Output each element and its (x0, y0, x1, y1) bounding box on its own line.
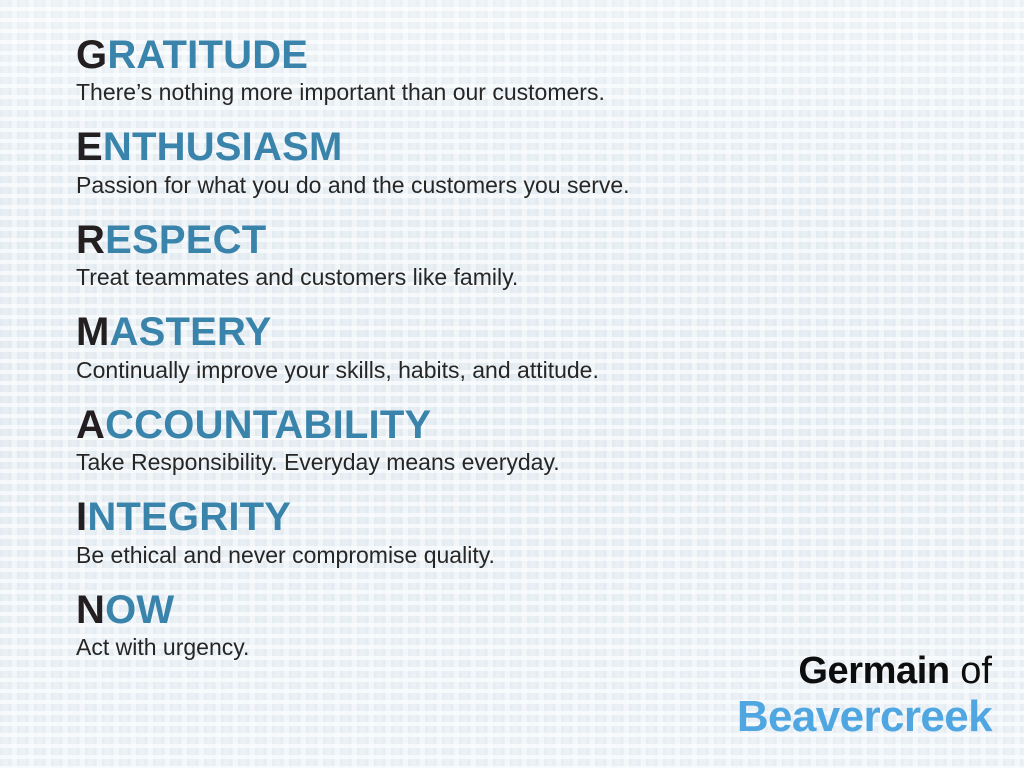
logo-connector-word: of (960, 650, 992, 692)
value-heading: GRATITUDE (76, 34, 1024, 76)
value-heading-rest: ASTERY (110, 310, 272, 354)
value-block-integrity: INTEGRITY Be ethical and never compromis… (76, 496, 1024, 568)
value-heading-rest: NTHUSIASM (103, 125, 343, 169)
logo-primary-line: Germain of (737, 652, 992, 692)
value-description: Passion for what you do and the customer… (76, 171, 1024, 199)
value-heading: RESPECT (76, 219, 1024, 261)
value-block-mastery: MASTERY Continually improve your skills,… (76, 311, 1024, 383)
value-heading-rest: NTEGRITY (87, 495, 291, 539)
value-heading-lead-letter: G (76, 33, 107, 77)
value-heading: ACCOUNTABILITY (76, 404, 1024, 446)
value-heading-rest: ESPECT (105, 218, 266, 262)
value-heading-lead-letter: A (76, 403, 105, 447)
value-heading-rest: CCOUNTABILITY (105, 403, 431, 447)
value-heading: MASTERY (76, 311, 1024, 353)
value-block-enthusiasm: ENTHUSIASM Passion for what you do and t… (76, 126, 1024, 198)
value-block-respect: RESPECT Treat teammates and customers li… (76, 219, 1024, 291)
dealership-logo: Germain of Beavercreek (737, 652, 992, 740)
value-heading-rest: RATITUDE (107, 33, 308, 77)
value-heading-lead-letter: I (76, 495, 87, 539)
value-description: Take Responsibility. Everyday means ever… (76, 448, 1024, 476)
value-description: Treat teammates and customers like famil… (76, 263, 1024, 291)
value-block-gratitude: GRATITUDE There’s nothing more important… (76, 34, 1024, 106)
value-block-accountability: ACCOUNTABILITY Take Responsibility. Ever… (76, 404, 1024, 476)
value-heading-rest: OW (105, 588, 174, 632)
value-heading-lead-letter: E (76, 125, 103, 169)
value-description: There’s nothing more important than our … (76, 78, 1024, 106)
value-heading: INTEGRITY (76, 496, 1024, 538)
value-heading-lead-letter: N (76, 588, 105, 632)
value-heading: NOW (76, 589, 1024, 631)
value-heading: ENTHUSIASM (76, 126, 1024, 168)
logo-location-name: Beavercreek (737, 694, 992, 740)
value-heading-lead-letter: M (76, 310, 110, 354)
value-description: Be ethical and never compromise quality. (76, 541, 1024, 569)
value-heading-lead-letter: R (76, 218, 105, 262)
value-description: Continually improve your skills, habits,… (76, 356, 1024, 384)
logo-brand-name: Germain (798, 650, 949, 692)
core-values-poster: GRATITUDE There’s nothing more important… (0, 0, 1024, 768)
